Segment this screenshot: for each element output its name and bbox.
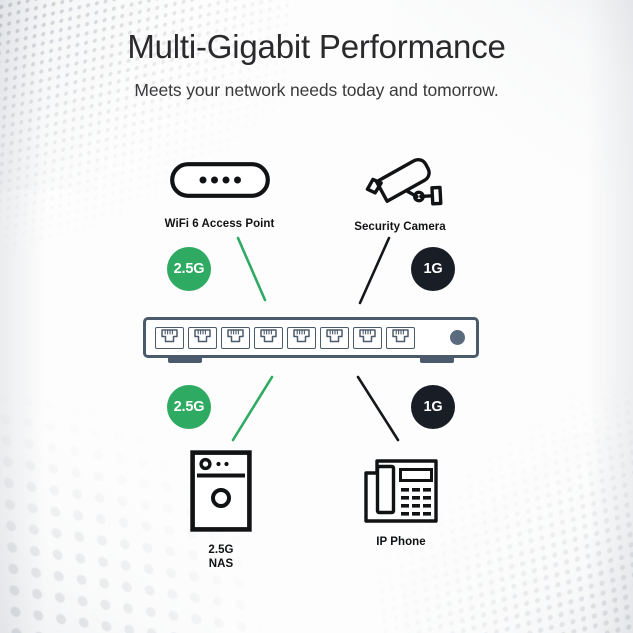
nas-icon <box>162 450 280 532</box>
node-label-wifi6-access-point: WiFi 6 Access Point <box>147 217 292 231</box>
rj45-port[interactable] <box>221 327 250 349</box>
status-led-icon <box>450 330 465 345</box>
rj45-port[interactable] <box>188 327 217 349</box>
rj45-port[interactable] <box>320 327 349 349</box>
node-label-nas: 2.5G NAS <box>162 543 280 572</box>
ip-phone-icon <box>340 455 462 527</box>
security-camera-icon <box>335 152 465 206</box>
node-label-ip-phone: IP Phone <box>340 535 462 549</box>
node-nas[interactable]: 2.5G NAS <box>162 450 280 572</box>
page-subtitle: Meets your network needs today and tomor… <box>0 80 633 101</box>
access-point-icon <box>147 155 292 205</box>
rj45-port[interactable] <box>287 327 316 349</box>
speed-badge-ip-phone[interactable]: 1G <box>411 385 455 429</box>
speed-badge-nas[interactable]: 2.5G <box>167 385 211 429</box>
speed-badge-security-camera[interactable]: 1G <box>411 247 455 291</box>
header: Multi-Gigabit Performance Meets your net… <box>0 28 633 101</box>
rj45-port[interactable] <box>353 327 382 349</box>
rj45-port[interactable] <box>155 327 184 349</box>
node-ip-phone[interactable]: IP Phone <box>340 455 462 549</box>
page-title: Multi-Gigabit Performance <box>0 28 633 67</box>
network-switch[interactable] <box>143 317 479 358</box>
promo-graphic: Multi-Gigabit Performance Meets your net… <box>0 0 633 633</box>
node-security-camera[interactable]: Security Camera <box>335 152 465 234</box>
switch-port-row <box>155 327 443 349</box>
node-label-security-camera: Security Camera <box>335 220 465 234</box>
node-wifi6-access-point[interactable]: WiFi 6 Access Point <box>147 155 292 231</box>
rj45-port[interactable] <box>386 327 415 349</box>
speed-badge-access-point[interactable]: 2.5G <box>167 247 211 291</box>
rj45-port[interactable] <box>254 327 283 349</box>
